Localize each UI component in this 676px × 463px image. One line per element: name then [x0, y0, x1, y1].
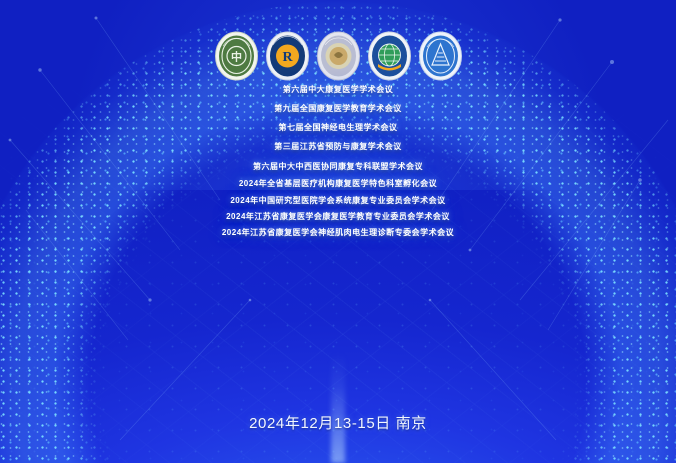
date-and-location: 2024年12月13-15日 南京 — [0, 412, 676, 433]
conference-poster: 中 R — [0, 0, 676, 463]
conference-title-line-3: 第七届全国神经电生理学术会议 — [0, 124, 676, 132]
organizer-logo-row: 中 R — [0, 30, 676, 82]
conference-title-line-6: 2024年全省基层医疗机构康复医学特色科室孵化会议 — [0, 180, 676, 188]
logo-research-hospital-association — [315, 30, 362, 82]
conference-title-list: 第六届中大康复医学学术会议 第九届全国康复医学教育学术会议 第七届全国神经电生理… — [0, 86, 676, 237]
conference-title-line-1: 第六届中大康复医学学术会议 — [0, 86, 676, 94]
conference-title-line-8: 2024年江苏省康复医学会康复医学教育专业委员会学术会议 — [0, 213, 676, 221]
logo-jiangsu-preventive-medicine — [366, 30, 413, 82]
conference-title-line-7: 2024年中国研究型医院学会系统康复专业委员会学术会议 — [0, 197, 676, 205]
logo-zhongda-hospital: 中 — [213, 30, 260, 82]
svg-text:R: R — [282, 50, 293, 65]
background-light-beam — [331, 353, 345, 463]
conference-title-line-9: 2024年江苏省康复医学会神经肌肉电生理诊断专委会学术会议 — [0, 229, 676, 237]
conference-title-line-5: 第六届中大中西医协同康复专科联盟学术会议 — [0, 163, 676, 171]
conference-title-line-2: 第九届全国康复医学教育学术会议 — [0, 105, 676, 113]
conference-title-line-4: 第三届江苏省预防与康复学术会议 — [0, 143, 676, 151]
svg-text:中: 中 — [231, 50, 242, 64]
logo-southeast-university — [417, 30, 464, 82]
logo-rehabilitation-association: R — [264, 30, 311, 82]
